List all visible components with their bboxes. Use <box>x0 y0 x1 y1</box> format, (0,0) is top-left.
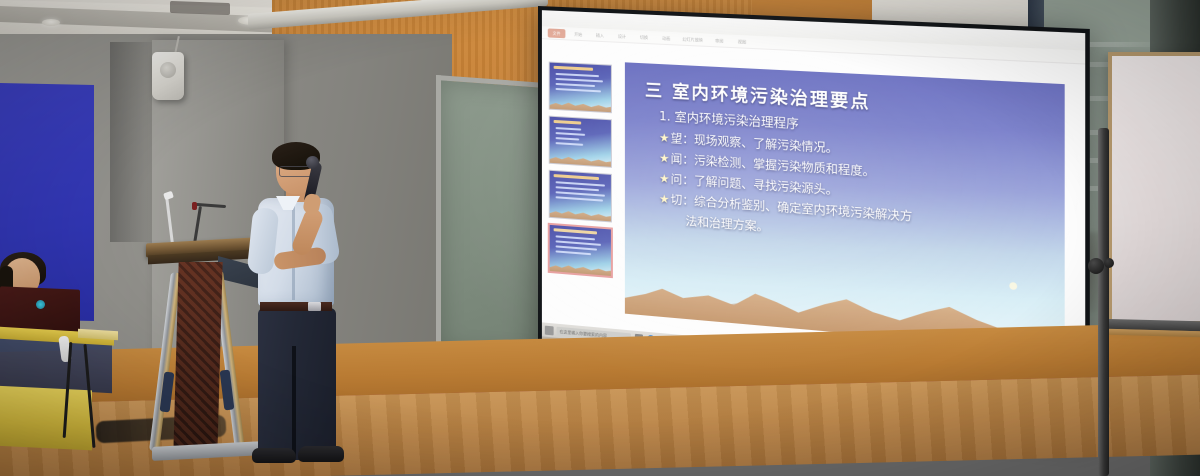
laptop[interactable] <box>0 286 80 331</box>
thumbnail-mountain-graphic <box>550 261 611 276</box>
presenter <box>246 146 366 466</box>
thumbnail-line <box>556 186 599 191</box>
thumbnail-line <box>556 235 595 240</box>
thumbnail-mountain-graphic <box>550 207 611 222</box>
presenter-shoe <box>252 448 296 463</box>
thumbnail-line <box>556 83 595 87</box>
ribbon-tab-transitions[interactable]: 切换 <box>635 32 653 42</box>
slide-thumbnail[interactable] <box>550 63 611 113</box>
laptop-logo-icon <box>36 300 45 309</box>
recessed-downlight-icon <box>42 19 60 26</box>
start-button[interactable] <box>545 325 554 335</box>
thumbnail-line <box>556 78 603 83</box>
thumbnail-title-bar <box>554 228 597 234</box>
ribbon-tab-slideshow[interactable]: 幻灯片放映 <box>679 34 706 44</box>
wall-shadow <box>110 42 158 242</box>
powerpoint-window[interactable]: 文件 开始 插入 设计 切换 动画 幻灯片放映 审阅 视图 <box>542 10 1085 371</box>
thumbnail-line <box>556 73 599 77</box>
bullet-label: 望 <box>671 131 683 146</box>
slide-bullet-list: ★望：现场观察、了解污染情况。 ★闻：污染检测、掌握污染物质和程度。 ★问：了解… <box>659 127 1058 259</box>
thumbnail-line <box>556 88 601 92</box>
ribbon-tab-file[interactable]: 文件 <box>548 28 566 38</box>
condenser-microphone-icon <box>192 202 197 210</box>
whiteboard-stand-post <box>1098 128 1109 476</box>
thumbnail-line <box>556 132 586 136</box>
thumbnail-line <box>556 250 591 255</box>
star-icon: ★ <box>659 171 669 186</box>
presenter-trousers <box>258 308 336 460</box>
thumbnail-line <box>556 127 582 131</box>
thumbnail-title-bar <box>554 66 593 71</box>
thumbnail-title-bar <box>554 174 599 180</box>
star-icon: ★ <box>659 151 669 166</box>
presenter-leg-split <box>292 346 296 458</box>
ribbon-tab-animations[interactable]: 动画 <box>657 33 675 43</box>
ribbon-tab-home[interactable]: 开始 <box>569 29 587 39</box>
table-underside <box>0 337 112 394</box>
thumbnail-line <box>556 142 584 146</box>
speaker-cone-icon <box>160 62 176 78</box>
ceiling-gap <box>170 1 230 15</box>
presenter-belt-buckle <box>308 302 321 311</box>
thumbnail-line <box>556 137 580 140</box>
bullet-label: 问 <box>671 172 683 187</box>
lecture-hall-scene: 文件 开始 插入 设计 切换 动画 幻灯片放映 审阅 视图 <box>0 0 1200 476</box>
ribbon-tab-review[interactable]: 审阅 <box>710 36 729 46</box>
lectern-front-panel <box>173 262 222 454</box>
thumbnail-mountain-graphic <box>550 153 611 167</box>
whiteboard-adjust-knob[interactable] <box>1104 258 1114 268</box>
bullet-label: 切 <box>671 192 683 207</box>
current-slide[interactable]: 三 室内环境污染治理要点 1. 室内环境污染治理程序 ★望：现场观察、了解污染情… <box>625 62 1065 352</box>
star-icon: ★ <box>659 191 669 206</box>
whiteboard-adjust-knob[interactable] <box>1088 258 1104 274</box>
slide-thumbnail[interactable] <box>550 117 611 167</box>
thumbnail-title-bar <box>554 120 582 125</box>
ribbon-tab-view[interactable]: 视图 <box>733 37 752 47</box>
presenter-shoe <box>298 446 344 462</box>
slide-thumbnail-panel[interactable] <box>550 63 613 319</box>
bullet-label: 闻 <box>671 151 683 166</box>
slide-thumbnail[interactable] <box>550 171 611 222</box>
star-icon: ★ <box>659 130 669 145</box>
operator-table-front <box>0 386 92 451</box>
ribbon-tab-insert[interactable]: 插入 <box>591 30 609 40</box>
thumbnail-line <box>556 245 597 250</box>
thumbnail-mountain-graphic <box>550 99 611 113</box>
slide-thumbnail-active[interactable] <box>550 225 611 276</box>
ribbon-tab-design[interactable]: 设计 <box>613 31 631 41</box>
sun-icon <box>1009 282 1017 290</box>
presenter-belt <box>260 302 332 311</box>
whiteboard[interactable] <box>1108 52 1200 325</box>
thumbnail-line <box>556 196 603 201</box>
